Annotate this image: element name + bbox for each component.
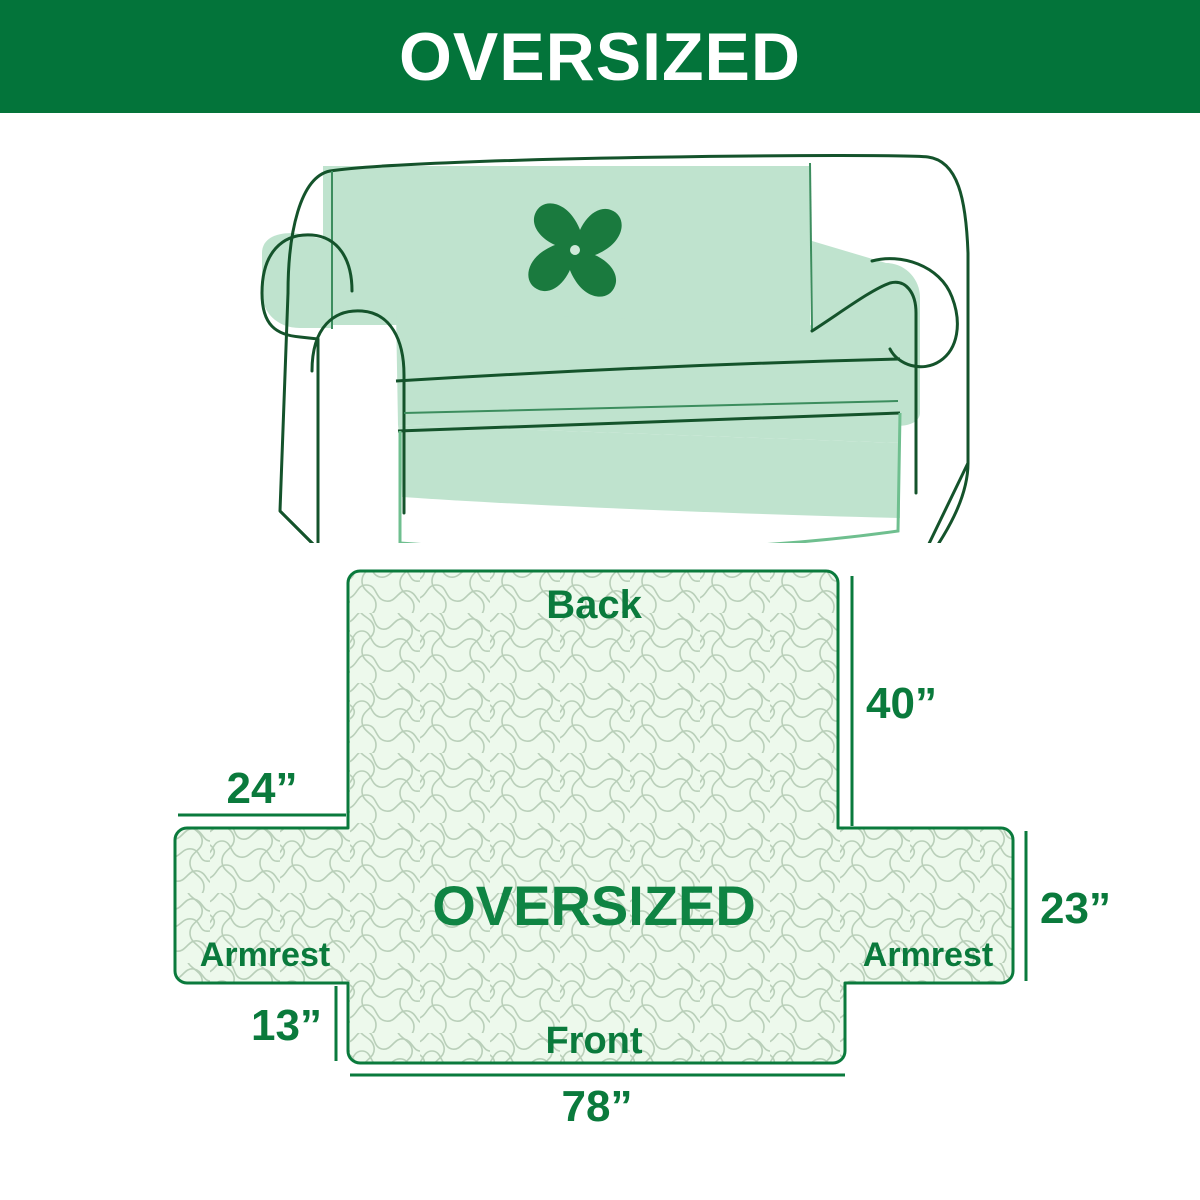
left-arm-inner-scroll-outline [312,311,404,513]
left-arm-outer-cover [262,233,332,328]
dimension-total-width: 78” [350,1075,845,1131]
dimension-diagram-svg: Back OVERSIZED Armrest Armrest Front 40”… [0,543,1200,1200]
cover-flat-layout-shape [175,571,1013,1063]
dimension-back-depth: 40” [852,576,937,826]
label-armrest-left: Armrest [200,936,330,974]
label-front: Front [545,1020,642,1062]
banner-title: OVERSIZED [399,23,801,91]
sofa-illustration-panel [0,113,1200,543]
dimension-value-13: 13” [251,1001,322,1050]
sofa-drawing-svg [0,113,1200,543]
left-body-side-outline [280,293,352,543]
dimension-value-23: 23” [1040,884,1111,933]
backrest-right-edge [810,163,812,331]
dimension-armrest-height: 23” [1026,831,1111,981]
dimension-value-40: 40” [866,679,937,728]
label-center-oversized: OVERSIZED [432,874,756,937]
dimension-value-24: 24” [227,764,298,813]
dimension-back-offset: 24” [178,764,346,815]
dimension-front-offset: 13” [251,986,336,1061]
label-armrest-right: Armrest [863,936,993,974]
header-banner: OVERSIZED [0,0,1200,113]
dimension-value-78: 78” [562,1082,633,1131]
cover-outline-path [175,571,1013,1063]
sofa-group [262,156,968,543]
dimension-diagram-panel: Back OVERSIZED Armrest Armrest Front 40”… [0,543,1200,1200]
label-back: Back [546,583,642,627]
